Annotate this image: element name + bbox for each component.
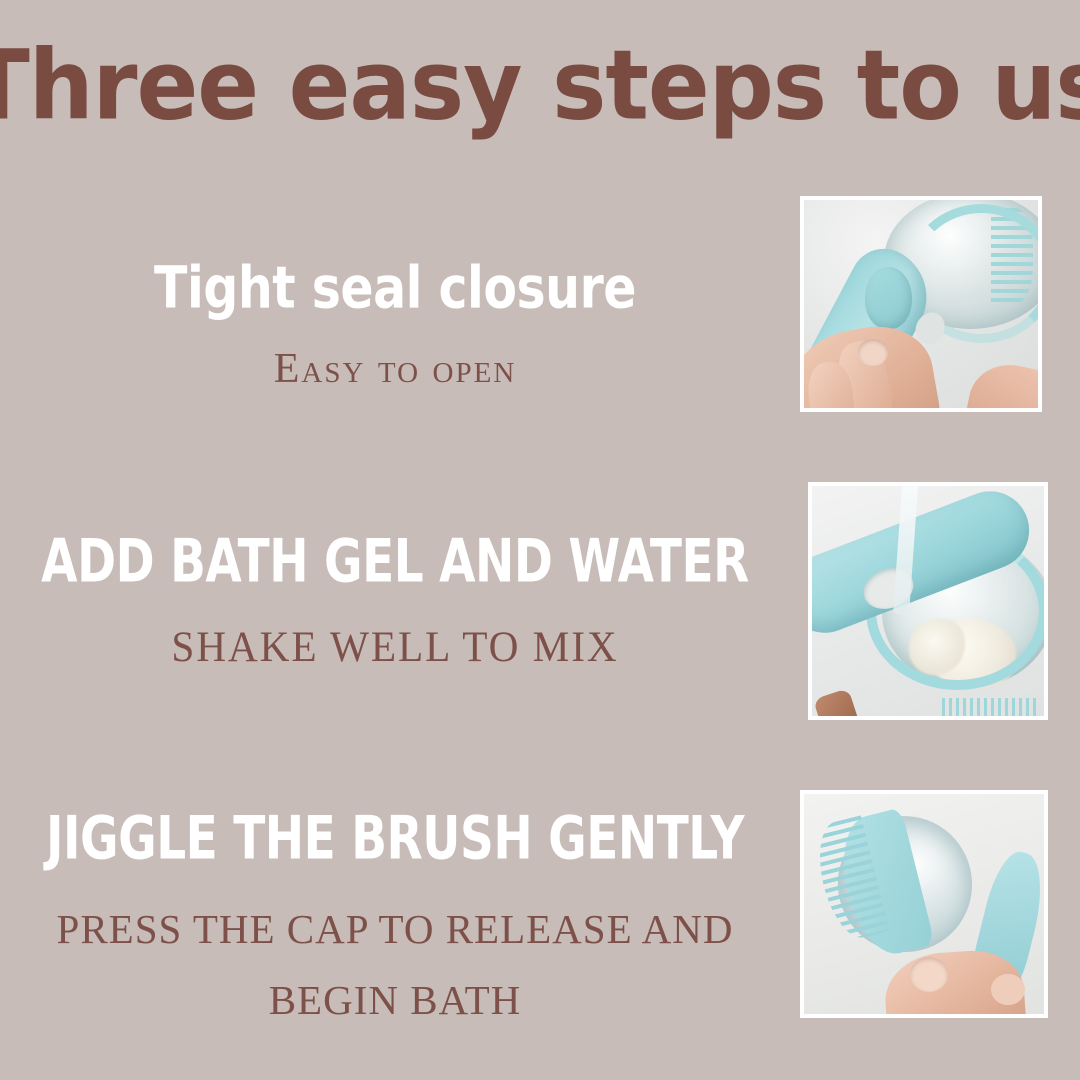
cap-tab-icon: [865, 267, 912, 329]
step-2-subtitle: SHAKE WELL TO MIX: [16, 623, 774, 672]
step-2-heading: ADD BATH GEL AND WATER: [24, 530, 767, 593]
step-item-1: Tight seal closure Easy to open: [0, 258, 790, 393]
hand-holding-brush-illustration: [804, 794, 1044, 1014]
page-title: Three easy steps to use: [0, 38, 1080, 134]
step-2-photo: [808, 482, 1048, 720]
silicone-bristles-icon: [942, 698, 1039, 716]
hand-opening-cap-illustration: [804, 200, 1038, 408]
step-3-subtitle: PRESS THE CAP TO RELEASE AND BEGIN BATH: [0, 894, 790, 1038]
step-item-3: JIGGLE THE BRUSH GENTLY PRESS THE CAP TO…: [0, 807, 790, 1037]
step-1-subtitle: Easy to open: [0, 345, 790, 393]
knuckle-icon: [991, 974, 1025, 1005]
step-1-heading: Tight seal closure: [0, 258, 790, 319]
poster-canvas: Three easy steps to use Tight seal closu…: [0, 0, 1080, 1080]
steps-list: Tight seal closure Easy to open ADD BATH…: [0, 170, 790, 1050]
step-3-photo: [800, 790, 1048, 1018]
step-item-2: ADD BATH GEL AND WATER SHAKE WELL TO MIX: [0, 530, 790, 672]
step-3-heading: JIGGLE THE BRUSH GENTLY: [24, 807, 767, 870]
step-1-photo: [800, 196, 1042, 412]
knuckle-icon: [910, 957, 948, 992]
water-filling-illustration: [812, 486, 1044, 716]
